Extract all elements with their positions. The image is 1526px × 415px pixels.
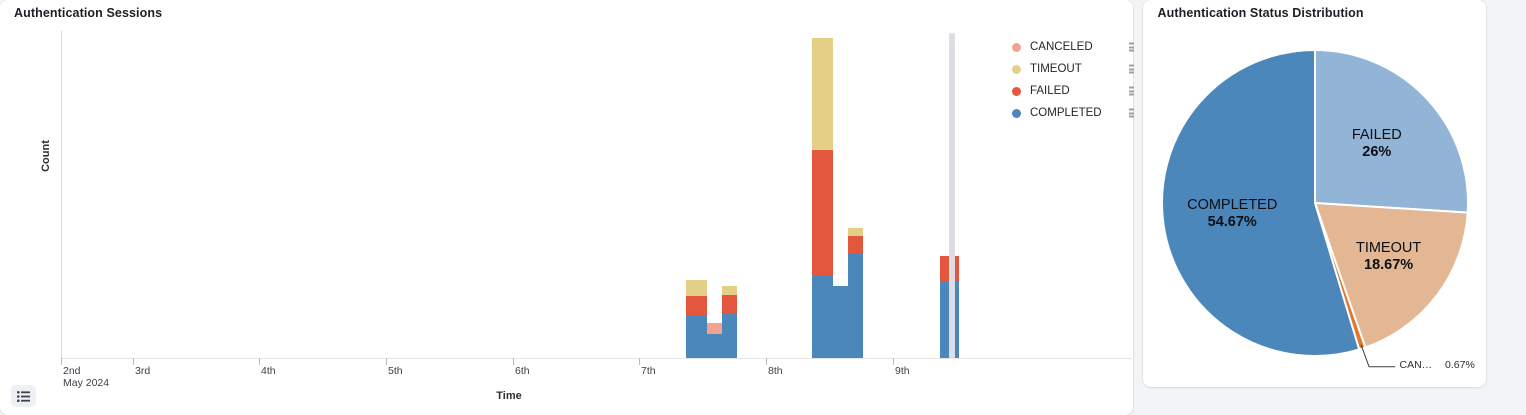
bar-5[interactable] xyxy=(848,228,863,358)
more-options-icon[interactable] xyxy=(1127,107,1136,120)
tick-label: 4th xyxy=(261,366,276,378)
x-axis-tick-4: 6th xyxy=(513,358,530,378)
x-axis-ticks: 2nd May 20243rd4th5th6th7th8th9th xyxy=(0,358,1141,392)
x-axis-label: Time xyxy=(0,390,1018,402)
bar-segment-completed[interactable] xyxy=(848,254,863,358)
tick-mark xyxy=(513,358,514,365)
bar-segment-completed[interactable] xyxy=(833,286,848,358)
x-axis-tick-1: 3rd xyxy=(133,358,150,378)
tick-mark xyxy=(61,358,62,365)
tick-mark xyxy=(639,358,640,365)
more-options-icon[interactable] xyxy=(1127,41,1136,54)
bar-1[interactable] xyxy=(707,323,722,358)
legend-color-dot xyxy=(1012,43,1021,52)
bar-chart-plot-area xyxy=(61,31,956,358)
authentication-sessions-panel: Authentication Sessions Count 2nd May 20… xyxy=(0,0,1133,415)
legend-item-failed[interactable]: FAILED xyxy=(1012,80,1136,102)
legend-color-dot xyxy=(1012,109,1021,118)
tick-label: 5th xyxy=(388,366,403,378)
pie-panel-title: Authentication Status Distribution xyxy=(1157,6,1363,20)
legend-item-canceled[interactable]: CANCELED xyxy=(1012,36,1136,58)
bar-segment-failed[interactable] xyxy=(686,296,707,316)
tick-mark xyxy=(133,358,134,365)
x-axis-tick-7: 9th xyxy=(893,358,910,378)
tick-mark xyxy=(386,358,387,365)
bar-4[interactable] xyxy=(833,286,848,358)
legend-item-label: COMPLETED xyxy=(1030,107,1102,119)
time-cursor-marker[interactable] xyxy=(949,33,955,358)
bar-segment-timeout[interactable] xyxy=(848,228,863,236)
tick-label: 6th xyxy=(515,366,530,378)
legend-item-label: TIMEOUT xyxy=(1030,63,1082,75)
x-axis-tick-3: 5th xyxy=(386,358,403,378)
legend-item-completed[interactable]: COMPLETED xyxy=(1012,102,1136,124)
tick-mark xyxy=(259,358,260,365)
pie-slice-label-failed: FAILED 26% xyxy=(1302,127,1452,161)
bar-segment-timeout[interactable] xyxy=(686,280,707,296)
pie-slice-label-completed: COMPLETED 54.67% xyxy=(1157,197,1307,231)
legend-item-label: CANCELED xyxy=(1030,41,1093,53)
tick-label: 9th xyxy=(895,366,910,378)
pie-slice-label-timeout: TIMEOUT 18.67% xyxy=(1314,240,1464,274)
bar-2[interactable] xyxy=(722,286,737,358)
tick-label: 3rd xyxy=(135,366,150,378)
bar-segment-completed[interactable] xyxy=(686,316,707,358)
dashboard-root: Authentication Sessions Count 2nd May 20… xyxy=(0,0,1526,415)
more-options-icon[interactable] xyxy=(1127,85,1136,98)
tick-mark xyxy=(766,358,767,365)
legend-color-dot xyxy=(1012,87,1021,96)
pie-chart: FAILED 26% TIMEOUT 18.67% COMPLETED 54.6… xyxy=(1143,24,1488,384)
authentication-status-distribution-panel: Authentication Status Distribution FAILE… xyxy=(1143,0,1486,387)
page-title: Authentication Sessions xyxy=(14,6,162,20)
y-axis-label: Count xyxy=(40,140,52,172)
bar-3[interactable] xyxy=(812,38,833,358)
bar-segment-canceled[interactable] xyxy=(707,323,722,334)
bar-segment-completed[interactable] xyxy=(707,334,722,358)
legend-color-dot xyxy=(1012,65,1021,74)
right-gutter xyxy=(1496,0,1526,415)
bar-segment-timeout[interactable] xyxy=(722,286,737,295)
chart-legend: CANCELEDTIMEOUTFAILEDCOMPLETED xyxy=(1012,36,1136,124)
x-axis-tick-2: 4th xyxy=(259,358,276,378)
bar-0[interactable] xyxy=(686,280,707,358)
tick-mark xyxy=(893,358,894,365)
x-axis-tick-5: 7th xyxy=(639,358,656,378)
x-axis-tick-0: 2nd May 2024 xyxy=(61,358,109,389)
bar-segment-failed[interactable] xyxy=(848,236,863,254)
tick-label: 2nd May 2024 xyxy=(63,366,109,389)
list-icon-button[interactable] xyxy=(11,385,36,407)
tick-label: 8th xyxy=(768,366,783,378)
list-icon xyxy=(17,391,30,402)
tick-label: 7th xyxy=(641,366,656,378)
bar-segment-timeout[interactable] xyxy=(812,38,833,150)
pie-slice-callout-canceled: CAN… 0.67% xyxy=(1400,359,1475,371)
bar-segment-completed[interactable] xyxy=(722,313,737,358)
x-axis-tick-6: 8th xyxy=(766,358,783,378)
bar-segment-failed[interactable] xyxy=(812,150,833,276)
legend-item-timeout[interactable]: TIMEOUT xyxy=(1012,58,1136,80)
legend-item-label: FAILED xyxy=(1030,85,1070,97)
more-options-icon[interactable] xyxy=(1127,63,1136,76)
bar-segment-completed[interactable] xyxy=(812,276,833,358)
bar-segment-failed[interactable] xyxy=(722,295,737,313)
